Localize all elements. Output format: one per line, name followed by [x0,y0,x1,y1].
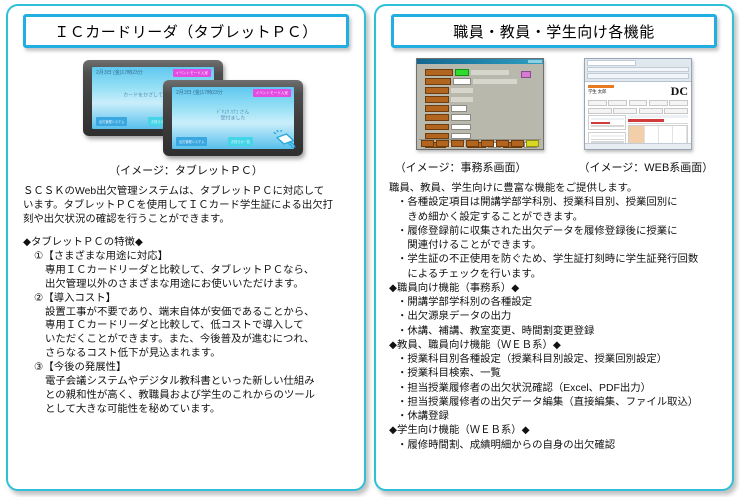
left-panel-body: ＳＣＳＫのWeb出欠管理システムは、タブレットＰＣに対応しています。タブレットＰ… [17,185,355,417]
web-brand-logo: DC [671,85,688,97]
admin-field-value [471,70,509,75]
body-line: ◆タブレットＰＣの特徴◆ [23,236,352,250]
admin-form-row [425,87,537,94]
tablet-front-clock: 2月3日 (金)17時23分 [176,89,223,96]
web-nav-tab [649,100,668,106]
body-line: ②【導入コスト】 [34,292,352,306]
body-line: ・各種設定項目は開講学部学科別、授業科目別、授業回別に [397,196,721,210]
admin-form-row [425,96,537,103]
body-line: として大きな可能性を秘めています。 [45,403,352,417]
browser-tab [587,60,636,66]
web-card-heading [591,118,624,121]
body-line: ・休講、補講、教室変更、時間割変更登録 [397,325,721,339]
body-line: との親和性が高く、教職員および学生のこれからのツール [45,389,352,403]
right-panel-body: 職員、教員、学生向けに豊富な機能をご提供します。・各種設定項目は開講学部学科別、… [385,182,723,453]
web-user-block: 学生 太郎 [588,85,614,95]
admin-footer-button [451,140,464,147]
body-line: ・出欠源泉データの出力 [397,310,721,324]
right-caption-row: （イメージ：事務系画面） （イメージ：WEB系画面） [385,159,723,175]
right-panel-title: 職員・教員・学生向け各機能 [453,21,655,42]
admin-search-badge [521,71,531,78]
body-line: ・学生証の不正使用を防ぐため、学生証打刻時に学生証発行回数 [397,253,721,267]
admin-footer-button [496,140,509,147]
web-page-header: 学生 太郎 DC [588,85,688,97]
web-subnav-tabs [588,108,688,114]
body-line: ・休講登録 [397,410,721,424]
tablet-device-front: 2月3日 (金)17時23分 イベントモード入室 ﾄﾞｷｮｳ ﾊﾅｺ さん 受付… [163,80,303,156]
web-user-name: 学生 太郎 [588,89,614,95]
body-spacer [23,227,352,236]
admin-input [451,105,467,112]
admin-field-label [425,105,449,112]
body-line: ◆学生向け機能（ＷＥＢ系）◆ [389,424,721,438]
body-line: 設置工事が不要であり、端末自体が安価であることから、 [45,306,352,320]
screenshot-illustrations: 学生 太郎 DC [385,58,723,155]
admin-input [451,124,471,131]
body-line: います。タブレットＰＣを使用してＩＣカード学生証による出欠打 [23,199,352,213]
web-nav-tab [629,100,648,106]
tablet-front-button-notices: お知らせ一覧 [228,137,253,146]
admin-footer-button [511,140,524,147]
web-nav-tab [588,100,607,106]
left-panel-title-box: ＩＣカードリーダ（タブレットＰＣ） [23,14,349,48]
admin-field-label [425,96,449,103]
browser-chrome [585,59,691,82]
admin-footer-button [481,140,494,147]
tablet-front-message-line2: 受付ました [172,116,294,123]
left-panel-title: ＩＣカードリーダ（タブレットＰＣ） [54,21,318,42]
tablet-illustration: 2月3日 (金)17時23分 イベントモード入室 カードをかざしてください 出欠… [17,58,355,158]
body-line: ◆職員向け機能（事務系）◆ [389,282,721,296]
admin-input [451,114,471,121]
body-line: きめ細かく設定することができます。 [397,211,721,225]
body-line: ③【今後の発展性】 [34,361,352,375]
admin-input [453,78,471,85]
tablet-front-mode-badge: イベントモード入室 [253,89,291,97]
web-alert-bar [628,119,664,122]
body-line: ◆教員、職員向け機能（ＷＥＢ系）◆ [389,339,721,353]
body-line: ・授業科目別各種設定（授業科目別設定、授業回別設定） [397,353,721,367]
web-accent-bar [588,85,614,88]
web-subnav-tab [588,108,612,114]
admin-field-label [425,114,449,121]
body-line: ・授業科目検索、一覧 [397,367,721,381]
admin-status-indicator [455,69,469,76]
admin-footer-button [421,140,434,147]
web-page-content: 学生 太郎 DC [585,82,691,150]
body-line: 関連付けることができます。 [397,239,721,253]
web-text-line [628,123,688,124]
admin-footer-button [436,140,449,147]
web-text-line [591,125,624,126]
tablet-front-message-line1: ﾄﾞｷｮｳ ﾊﾅｺ さん [172,109,294,116]
tablet-back-mode-badge: イベントモード入室 [173,69,211,77]
web-subnav-tab [613,108,637,114]
body-line: いただくことができます。また、今後普及が進むにつれ、 [45,333,352,347]
left-panel: ＩＣカードリーダ（タブレットＰＣ） 2月3日 (金)17時23分 イベントモード… [6,4,366,491]
web-alert-bar [591,122,611,125]
right-panel: 職員・教員・学生向け各機能 [374,4,734,491]
tablet-front-message: ﾄﾞｷｮｳ ﾊﾅｺ さん 受付ました [172,109,294,123]
admin-button-bar [417,140,543,147]
body-line: ・履修登録前に収集された出欠データを履修登録後に授業に [397,225,721,239]
admin-form-row [425,114,537,121]
body-line: 職員、教員、学生向けに豊富な機能をご提供します。 [389,182,721,196]
web-card-heading [591,135,624,138]
body-line: ＳＣＳＫのWeb出欠管理システムは、タブレットＰＣに対応して [23,185,352,199]
web-nav-tab [669,100,688,106]
web-nav-tab [608,100,627,106]
web-side-card [588,115,626,130]
body-line: 電子会議システムやデジタル教科書といった新しい仕組み [45,375,352,389]
tablet-back-button-system: 出欠管理システム [96,117,127,126]
admin-form-row [425,78,537,85]
admin-screen-thumbnail [416,58,544,150]
admin-field-value [451,88,473,93]
web-screen-caption: （イメージ：WEB系画面） [578,159,713,175]
admin-window-titlebar [417,59,543,64]
body-line: ・担当授業履修者の出欠データ編集（直接編集、ファイル取込） [397,396,721,410]
body-line: ①【さまざまな用途に対応】 [34,250,352,264]
body-line: ・開講学部学科別の各種設定 [397,296,721,310]
web-screen-thumbnail: 学生 太郎 DC [584,58,692,150]
admin-field-label [425,124,449,131]
body-line: 刻や出欠状況の確認を行うことができます。 [23,213,352,227]
admin-field-value [473,79,517,84]
body-line: さらなるコスト低下が見込まれます。 [45,347,352,361]
left-panel-caption: （イメージ：タブレットＰＣ） [109,162,263,178]
body-line: 出欠管理以外のさまざまな用途にお使いいただけます。 [45,278,352,292]
body-line: 専用ＩＣカードリーダと比較して、タブレットＰＣなら、 [45,264,352,278]
right-panel-title-box: 職員・教員・学生向け各機能 [391,14,717,48]
body-line: ・履修時間割、成績明細からの自身の出欠確認 [397,439,721,453]
admin-footer-button [466,140,479,147]
browser-status-bar [585,143,691,149]
admin-field-label [425,69,453,76]
web-subnav-tab [664,108,688,114]
web-subnav-tab [639,108,663,114]
admin-screen-caption: （イメージ：事務系画面） [395,159,527,175]
admin-field-value [451,97,473,102]
web-nav-tabs [588,100,688,106]
tablet-back-clock: 2月3日 (金)17時23分 [96,69,143,76]
hand-tap-icon [273,130,297,150]
left-caption-row: （イメージ：タブレットＰＣ） [17,162,355,178]
admin-form-row [425,105,537,112]
body-line: 専用ＩＣカードリーダと比較して、低コストで導入して [45,319,352,333]
web-card-heading [628,115,688,118]
browser-address-bar [587,67,689,73]
admin-field-label [425,78,451,85]
admin-field-label [425,87,449,94]
browser-toolbar [587,73,689,79]
admin-form-row [425,124,537,131]
web-text-line [591,139,624,140]
tablet-front-button-system: 出欠管理システム [176,137,207,146]
slide-root: ＩＣカードリーダ（タブレットＰＣ） 2月3日 (金)17時23分 イベントモード… [0,0,740,497]
body-line: によるチェックを行います。 [397,268,721,282]
admin-footer-button-highlight [526,140,539,147]
body-line: ・担当授業履修者の出欠状況確認（Excel、PDF出力） [397,382,721,396]
